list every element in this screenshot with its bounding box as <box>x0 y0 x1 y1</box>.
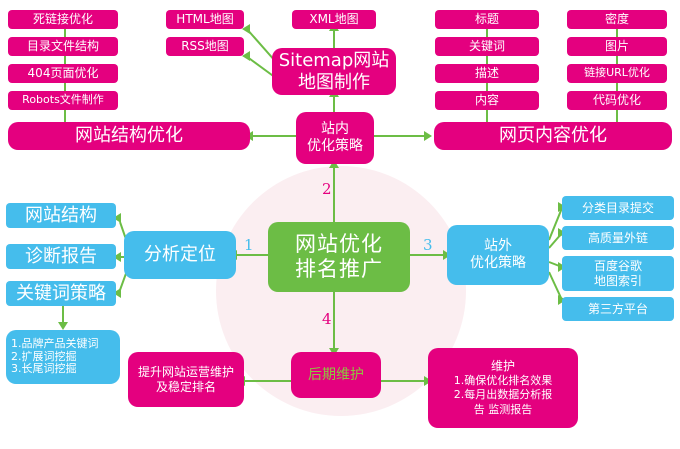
node-link-url-optimization[interactable]: 链接URL优化 <box>567 64 667 83</box>
maintenance-detail-body: 1.确保优化排名效果 2.每月出数据分析报 告 监测报告 <box>454 374 553 417</box>
node-keyword-list[interactable]: 1.品牌产品关键词 2.扩展词挖掘 3.长尾词挖掘 <box>6 330 120 384</box>
node-keyword-strategy[interactable]: 关键词策略 <box>6 281 116 306</box>
node-keywords[interactable]: 关键词 <box>435 37 539 56</box>
node-html-sitemap[interactable]: HTML地图 <box>166 10 244 29</box>
arrow-keyword-to-list <box>58 322 68 330</box>
node-sitemap-creation[interactable]: Sitemap网站 地图制作 <box>272 48 396 95</box>
node-diagnostic-report[interactable]: 诊断报告 <box>6 244 116 269</box>
node-title[interactable]: 标题 <box>435 10 539 29</box>
node-page-content-optimization[interactable]: 网页内容优化 <box>434 122 672 150</box>
node-404-page-optimization[interactable]: 404页面优化 <box>8 64 118 83</box>
step-number-2: 2 <box>322 180 332 198</box>
node-maintenance-result[interactable]: 提升网站运营维护 及稳定排名 <box>128 352 244 407</box>
seo-mindmap-diagram: 1 2 3 4 死链接优化 目录文件结构 404页面优化 Robots文件制作 … <box>0 0 680 449</box>
node-baidu-google-map-index[interactable]: 百度谷歌 地图索引 <box>562 256 674 291</box>
node-category-directory-submit[interactable]: 分类目录提交 <box>562 196 674 220</box>
step-number-4: 4 <box>322 310 332 328</box>
node-robots-file-creation[interactable]: Robots文件制作 <box>8 91 118 110</box>
node-images[interactable]: 图片 <box>567 37 667 56</box>
node-maintenance-detail[interactable]: 维护 1.确保优化排名效果 2.每月出数据分析报 告 监测报告 <box>428 348 578 428</box>
node-analysis-positioning[interactable]: 分析定位 <box>124 231 236 279</box>
node-onsite-strategy[interactable]: 站内 优化策略 <box>296 112 374 164</box>
node-content[interactable]: 内容 <box>435 91 539 110</box>
step-number-1: 1 <box>244 236 254 254</box>
node-xml-sitemap[interactable]: XML地图 <box>292 10 376 29</box>
node-dead-link-optimization[interactable]: 死链接优化 <box>8 10 118 29</box>
arrow-onsite-to-content <box>424 131 432 141</box>
node-density[interactable]: 密度 <box>567 10 667 29</box>
node-hub-website-optimization-ranking[interactable]: 网站优化 排名推广 <box>268 222 410 292</box>
node-offsite-strategy[interactable]: 站外 优化策略 <box>447 225 549 285</box>
node-rss-sitemap[interactable]: RSS地图 <box>166 37 244 56</box>
node-site-structure-optimization[interactable]: 网站结构优化 <box>8 122 250 150</box>
node-description[interactable]: 描述 <box>435 64 539 83</box>
node-post-maintenance[interactable]: 后期维护 <box>291 352 381 398</box>
node-code-optimization[interactable]: 代码优化 <box>567 91 667 110</box>
step-number-3: 3 <box>423 236 433 254</box>
maintenance-detail-title: 维护 <box>491 359 515 373</box>
node-high-quality-backlinks[interactable]: 高质量外链 <box>562 226 674 250</box>
node-third-party-platform[interactable]: 第三方平台 <box>562 297 674 321</box>
node-directory-file-structure[interactable]: 目录文件结构 <box>8 37 118 56</box>
node-website-structure[interactable]: 网站结构 <box>6 203 116 228</box>
